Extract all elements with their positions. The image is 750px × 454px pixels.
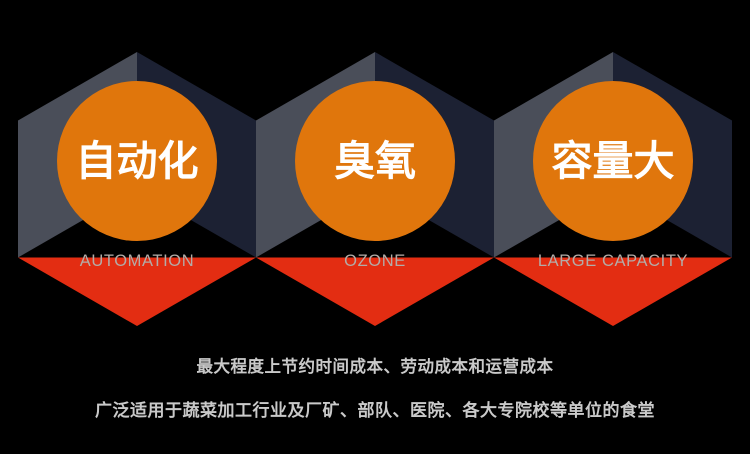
tagline-block: 最大程度上节约时间成本、劳动成本和运营成本 广泛适用于蔬菜加工行业及厂矿、部队、…: [0, 356, 750, 422]
feature-card-ozone[interactable]: 臭氧 OZONE: [256, 52, 494, 326]
tagline-primary: 最大程度上节约时间成本、劳动成本和运营成本: [0, 356, 750, 378]
feature-caption: AUTOMATION: [18, 252, 256, 271]
feature-circle: 容量大: [533, 81, 693, 241]
promo-banner: 自动化 AUTOMATION 臭氧 OZONE 容量大: [0, 0, 750, 454]
feature-card-large-capacity[interactable]: 容量大 LARGE CAPACITY: [494, 52, 732, 326]
tagline-secondary: 广泛适用于蔬菜加工行业及厂矿、部队、医院、各大专院校等单位的食堂: [0, 400, 750, 422]
feature-circle-label: 臭氧: [334, 141, 416, 182]
feature-hexagon-row: 自动化 AUTOMATION 臭氧 OZONE 容量大: [0, 0, 750, 340]
feature-card-automation[interactable]: 自动化 AUTOMATION: [18, 52, 256, 326]
feature-circle: 自动化: [57, 81, 217, 241]
feature-caption: LARGE CAPACITY: [494, 252, 732, 271]
feature-circle-label: 容量大: [552, 141, 675, 182]
feature-caption: OZONE: [256, 252, 494, 271]
feature-circle: 臭氧: [295, 81, 455, 241]
feature-circle-label: 自动化: [76, 141, 199, 182]
